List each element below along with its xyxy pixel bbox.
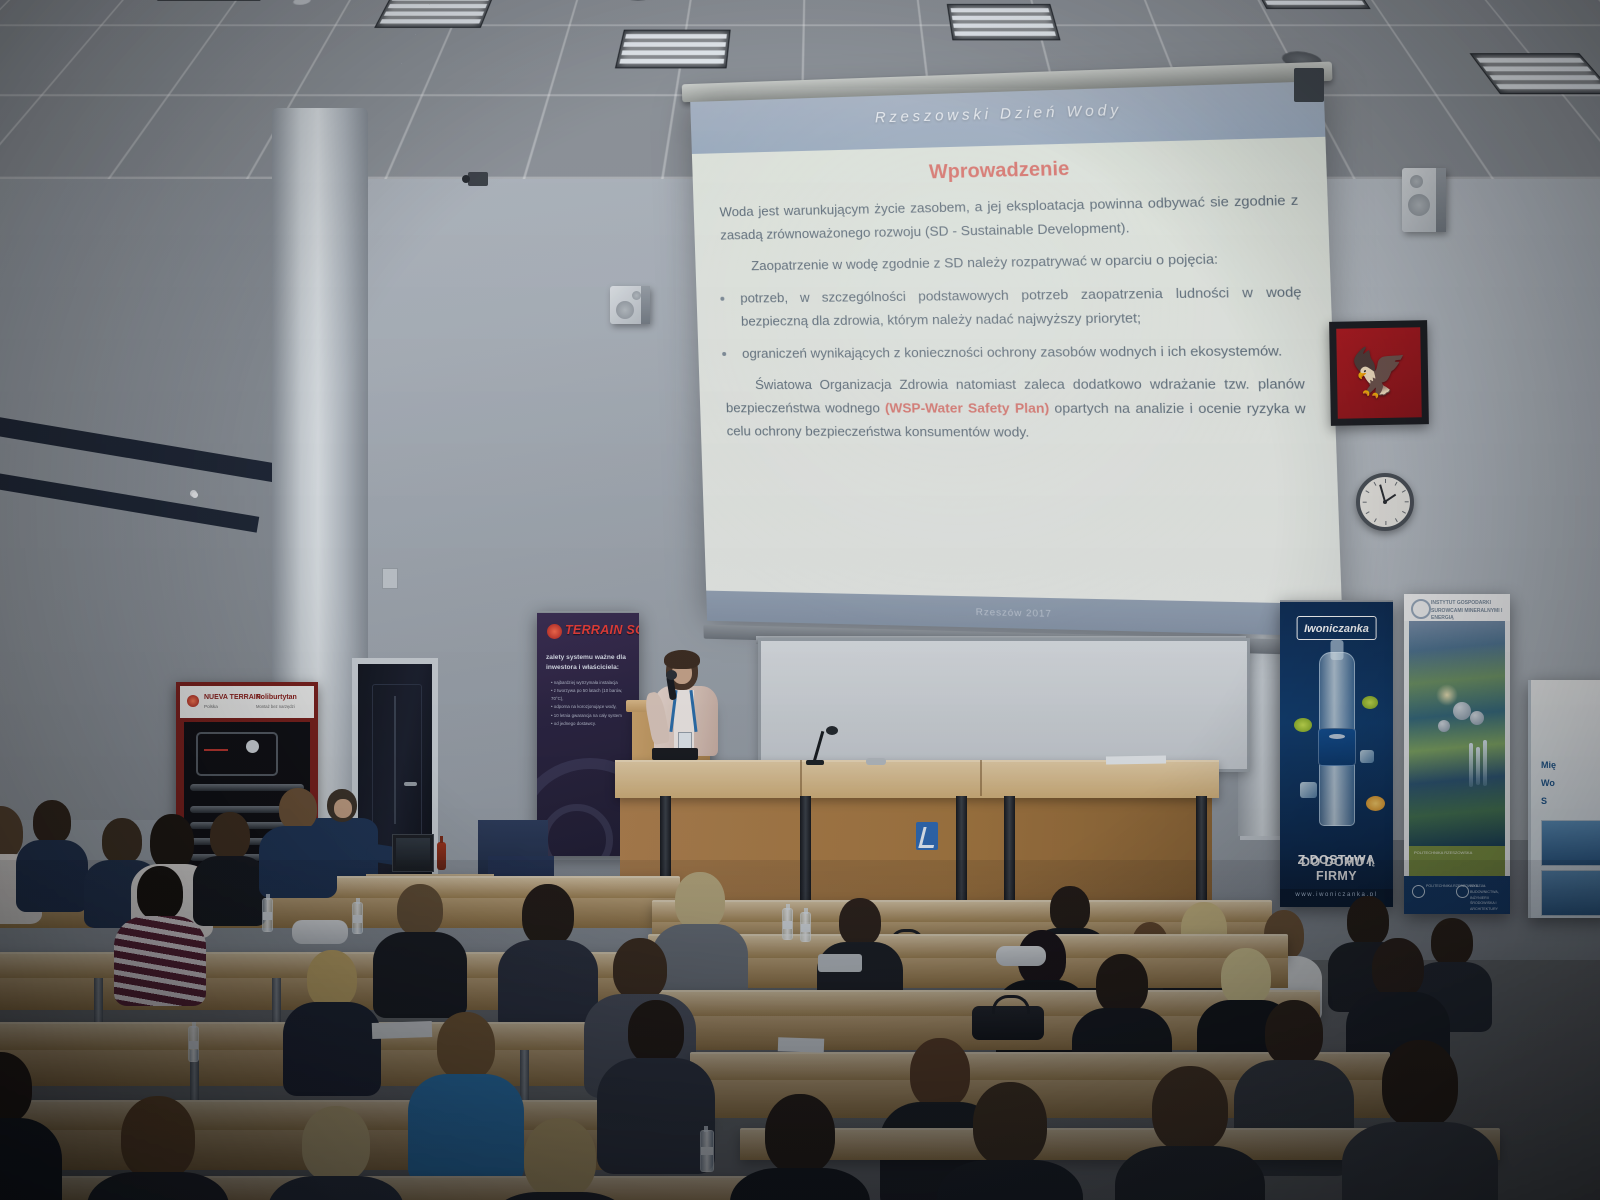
terrain-logo-icon (547, 624, 562, 639)
env-banner-header: INSTYTUT GOSPODARKI SUROWCAMI MINERALNYM… (1404, 594, 1510, 621)
iwoniczanka-tagline-2: DO DOMU I FIRMY (1280, 855, 1393, 883)
lecture-hall-photo: Rzeszowski Dzień Wody Wprowadzenie Woda … (0, 0, 1600, 1200)
banner-iwoniczanka: Iwoniczanka Z DOSTAWĄ DO DOMU I FIRMY ww… (1280, 600, 1393, 907)
bench-row (652, 900, 1272, 924)
desk-papers (1106, 755, 1166, 764)
white-banner-text-1: Mię (1541, 758, 1556, 773)
folded-garment (996, 946, 1046, 966)
folded-garment (292, 920, 348, 944)
loudspeaker-icon (1402, 168, 1446, 232)
water-bottle-icon (800, 912, 811, 942)
water-bottle-icon (262, 898, 273, 932)
wall-socket-plate (382, 568, 398, 589)
desk-leg (1196, 796, 1207, 914)
banner-environment: INSTYTUT GOSPODARKI SUROWCAMI MINERALNYM… (1404, 594, 1510, 914)
board-country: Polska (204, 704, 218, 709)
microphone-head (666, 670, 677, 680)
board-header: NUEVA TERRAIN Polska Poliburtytan Montaż… (180, 686, 314, 718)
water-bottle-icon (700, 1130, 714, 1172)
white-banner-text-3: S (1541, 794, 1547, 809)
env-header-text: INSTYTUT GOSPODARKI SUROWCAMI MINERALNYM… (1431, 600, 1510, 623)
projection-screen: Rzeszowski Dzień Wody Wprowadzenie Woda … (690, 75, 1343, 643)
door-strip (394, 696, 396, 824)
notebook (778, 1037, 824, 1053)
laptop-icon (392, 834, 434, 872)
slide-p3-highlight: (WSP-Water Safety Plan) (885, 400, 1050, 416)
env-green-band: POLITECHNIKA RZESZOWSKA (1409, 846, 1505, 876)
water-bottle-icon (782, 908, 793, 940)
desk-leg (800, 796, 811, 914)
ceiling-light-panel (615, 30, 731, 69)
loudspeaker-icon (610, 286, 650, 324)
water-bottle-icon (352, 902, 363, 934)
cctv-camera-icon (468, 172, 488, 186)
board-product: Poliburtytan (256, 694, 297, 701)
clock-icon (1356, 473, 1414, 531)
slide-title: Wprowadzenie (692, 152, 1326, 190)
white-banner-text-2: Wo (1541, 776, 1555, 791)
door-handle[interactable] (404, 782, 417, 786)
slide-paragraph-1: Woda jest warunkującym życie zasobem, a … (719, 189, 1299, 247)
handbag-icon (972, 1006, 1044, 1040)
speaker-hair (664, 650, 700, 669)
projector-icon (1294, 68, 1324, 102)
desk-leg (1004, 796, 1015, 914)
iwoniczanka-brand: Iwoniczanka (1304, 623, 1369, 635)
board-brand: NUEVA TERRAIN (204, 694, 261, 701)
desk-microphone-head (826, 726, 838, 735)
banner-white-right: Mię Wo S (1528, 680, 1600, 918)
slide-bullet-1: potrzeb, w szczególności podstawowych po… (740, 281, 1303, 334)
eagle-icon: 🦅 (1349, 348, 1408, 396)
water-bottle-icon (188, 1026, 199, 1062)
bottle-label (1318, 728, 1356, 766)
ceiling-light-panel (374, 0, 495, 28)
emblem-backing: 🦅 (1336, 327, 1422, 418)
ceiling-light-panel (1248, 0, 1370, 9)
nueva-terrain-logo-icon (187, 695, 199, 707)
university-crest-sticker (916, 822, 938, 850)
terrain-brand: TERRAIN SOP (565, 623, 639, 637)
terrain-subtitle: zalety systemu ważne dla inwestora i wła… (546, 653, 633, 672)
notebook (372, 1021, 433, 1039)
env-contact-text: POLITECHNIKA RZESZOWSKA (1414, 850, 1472, 856)
whiteboard (758, 638, 1250, 772)
env-blue-footer: POLITECHNIKA RZESZOWSKA WYDZIAŁ BUDOWNIC… (1404, 876, 1510, 914)
beverage-bottle-icon (437, 842, 446, 870)
env-footer-right: WYDZIAŁ BUDOWNICTWA, INŻYNIERII ŚRODOWIS… (1470, 884, 1506, 913)
door-panel (372, 684, 422, 854)
slide-body: Wprowadzenie Woda jest warunkującym życi… (692, 137, 1342, 605)
presentation-slide: Rzeszowski Dzień Wody Wprowadzenie Woda … (690, 81, 1343, 636)
attendee-laptop-face (334, 799, 352, 818)
desk-seam (800, 760, 802, 796)
slide-bullet-2: ograniczeń wynikających z konieczności o… (742, 339, 1304, 365)
speaker-badge (678, 732, 692, 749)
iwoniczanka-logo: Iwoniczanka (1296, 616, 1377, 640)
institute-logo-icon (1411, 599, 1431, 619)
slide-paragraph-2: Zaopatrzenie w wodę zgodnie z SD należy … (721, 247, 1301, 279)
polish-emblem-frame: 🦅 (1329, 320, 1429, 426)
env-banner-photo (1409, 621, 1505, 846)
desk-microphone-base (806, 760, 824, 765)
document-stack (818, 954, 862, 972)
desk-leg (956, 796, 967, 914)
front-desk-top (615, 760, 1219, 798)
terrain-bullets: • najbardziej wytrzymała instalacja • z … (551, 679, 634, 728)
board-product-sub: Montaż bez narzędzi (256, 704, 295, 709)
desk-seam (980, 760, 982, 796)
slide-paragraph-3: Światowa Organizacja Zdrowia natomiast z… (725, 373, 1307, 446)
wall-highlight (190, 490, 197, 497)
ceiling-light-panel (947, 4, 1061, 40)
lectern-laptop-icon (652, 748, 698, 760)
desk-object (866, 758, 886, 765)
